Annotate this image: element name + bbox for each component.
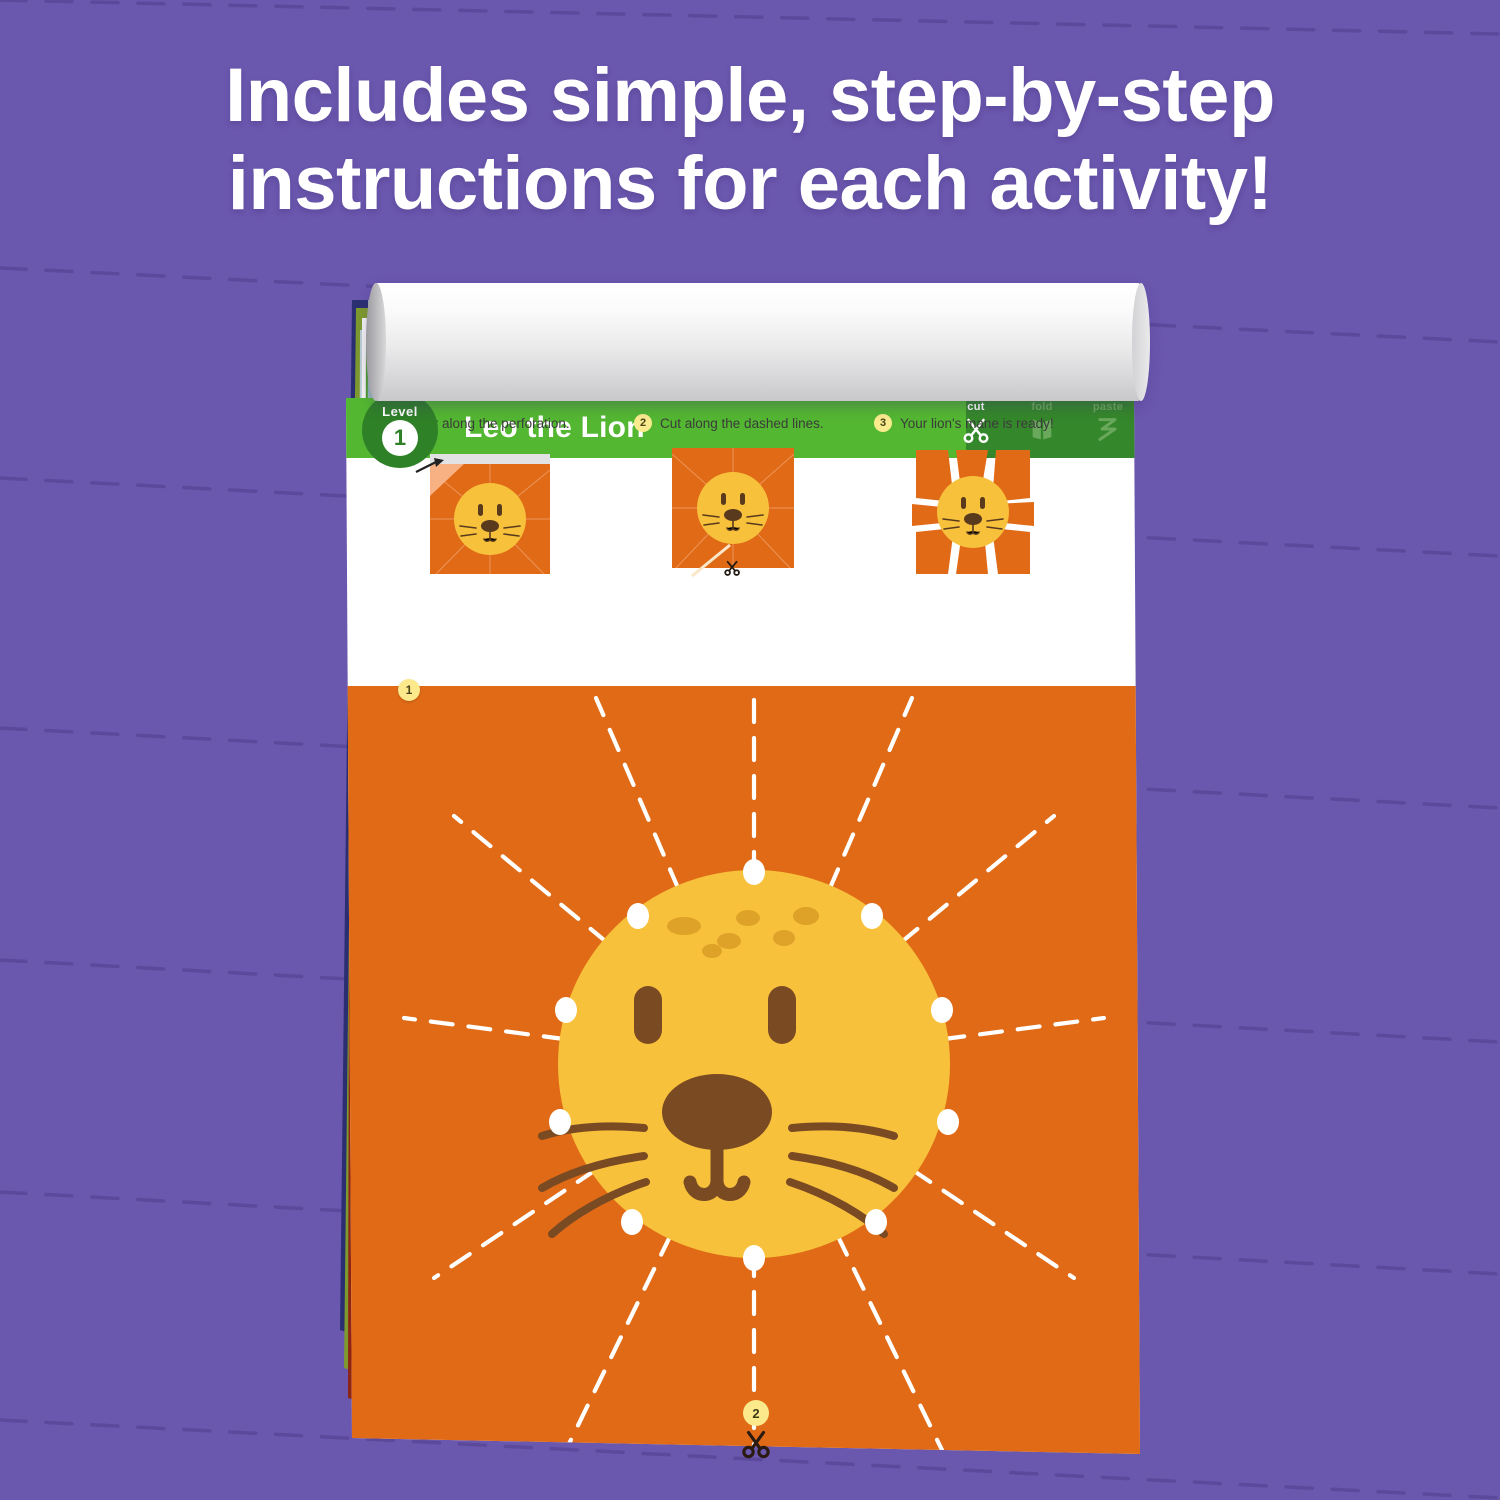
step-3-text: Your lion's mane is ready! bbox=[900, 416, 1054, 431]
rolled-paper-top bbox=[368, 283, 1148, 401]
perforation-marker: 1 bbox=[398, 679, 420, 701]
headline-line-2: instructions for each activity! bbox=[0, 140, 1500, 228]
step-3: 3 Your lion's mane is ready! bbox=[874, 398, 1122, 432]
thumb-tear-corner bbox=[404, 440, 564, 580]
thumb-cut-scissors bbox=[652, 440, 812, 580]
thumb-finished-mane bbox=[892, 440, 1052, 580]
level-badge: Level 1 bbox=[362, 392, 438, 468]
step-2: 2 Cut along the dashed lines. bbox=[634, 398, 882, 432]
page-title: Includes simple, step-by-step instructio… bbox=[0, 52, 1500, 228]
scissors-icon-bottom bbox=[738, 1426, 774, 1466]
level-number: 1 bbox=[382, 420, 418, 456]
step-2-text: Cut along the dashed lines. bbox=[660, 416, 824, 431]
instruction-steps: 1 Tear along the perforation. bbox=[344, 398, 1140, 1460]
cut-marker: 2 bbox=[743, 1400, 769, 1426]
activity-sheet: Level 1 Leo the Lion cut fold paste bbox=[344, 398, 1140, 1460]
step-2-number: 2 bbox=[634, 414, 652, 432]
step-3-number: 3 bbox=[874, 414, 892, 432]
level-label: Level bbox=[362, 404, 438, 419]
headline-line-1: Includes simple, step-by-step bbox=[0, 52, 1500, 140]
